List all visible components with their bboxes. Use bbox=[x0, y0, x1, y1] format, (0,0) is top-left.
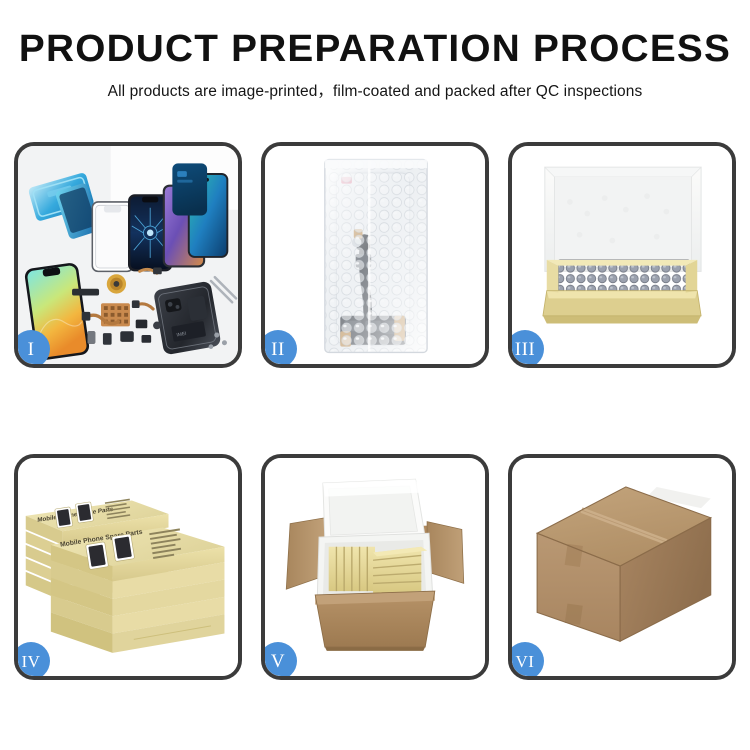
sealed-carton-illustration bbox=[512, 458, 732, 676]
page-subtitle: All products are image-printed，film-coat… bbox=[0, 79, 750, 101]
open-yellow-box-illustration bbox=[512, 146, 732, 364]
panel-open-yellow-box: III bbox=[508, 142, 736, 368]
panel-bubble-wrapped-screen: II bbox=[261, 142, 489, 368]
panel-carton-with-foam: V bbox=[261, 454, 489, 680]
bubble-wrapped-screen-illustration bbox=[265, 146, 485, 364]
header: PRODUCT PREPARATION PROCESS All products… bbox=[0, 30, 750, 101]
phone-screens-and-parts-illustration: IMEI bbox=[18, 146, 238, 364]
panel-stacked-spare-parts-boxes: Mobile Phone Spare Parts bbox=[14, 454, 242, 680]
page-title: PRODUCT PREPARATION PROCESS bbox=[0, 30, 750, 70]
panel-sealed-shipping-carton: VI bbox=[508, 454, 736, 680]
panel-phone-screens-and-parts: IMEI bbox=[14, 142, 242, 368]
product-preparation-infographic: PRODUCT PREPARATION PROCESS All products… bbox=[0, 0, 750, 750]
carton-with-foam-illustration bbox=[265, 458, 485, 676]
process-panel-grid: IMEI bbox=[14, 142, 736, 680]
stacked-boxes-illustration: Mobile Phone Spare Parts bbox=[18, 458, 238, 676]
